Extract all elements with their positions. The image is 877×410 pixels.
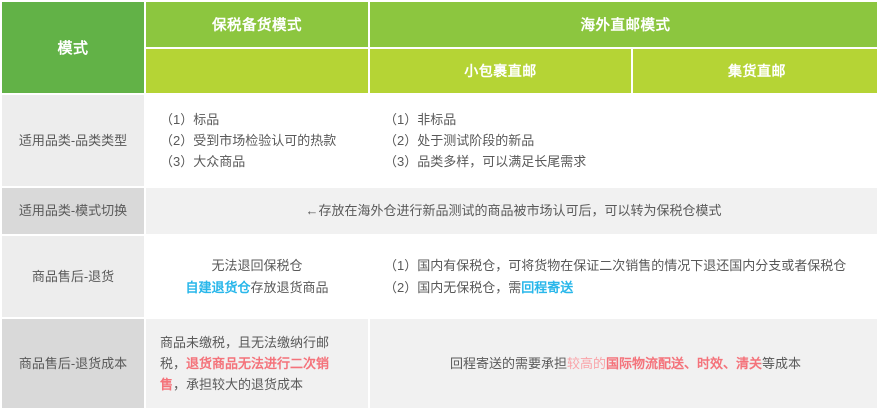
cell-bonded-return-cost: 商品未缴税，且无法缴纳行邮税，退货商品无法进行二次销售，承担较大的退货成本: [146, 319, 368, 408]
table-row: 商品售后-退货 无法退回保税仓 自建退货仓存放退货商品 （1）国内有保税仓，可将…: [2, 236, 877, 317]
table-row: 适用品类-模式切换 ←存放在海外仓进行新品测试的商品被市场认可后，可以转为保税仓…: [2, 188, 877, 234]
cell-overseas-category-type: （1）非标品 （2）处于测试阶段的新品 （3）品类多样，可以满足长尾需求: [370, 95, 877, 186]
cell-text-segment: ，承担较大的退货成本: [173, 377, 303, 392]
cell-line: 无法退回保税仓: [160, 255, 354, 276]
header-mode-label: 模式: [2, 2, 144, 93]
row-label-returns: 商品售后-退货: [2, 236, 144, 317]
cell-line: （1）国内有保税仓，可将货物在保证二次销售的情况下退还国内分支或者保税仓: [384, 255, 867, 276]
cell-text-segment: 回程寄送的需要承担: [450, 356, 567, 371]
header-sub-small-parcel: 小包裹直邮: [370, 49, 631, 93]
row-label-return-cost: 商品售后-退货成本: [2, 319, 144, 408]
table-row: 适用品类-品类类型 （1）标品 （2）受到市场检验认可的热款 （3）大众商品 （…: [2, 95, 877, 186]
cell-line: （2）处于测试阶段的新品: [384, 130, 867, 151]
header-row-groups: 模式 保税备货模式 海外直邮模式: [2, 2, 877, 47]
header-sub-bulk: 集货直邮: [633, 49, 877, 93]
table-header: 模式 保税备货模式 海外直邮模式 小包裹直邮 集货直邮: [2, 2, 877, 93]
cell-line: （3）大众商品: [160, 151, 354, 172]
cell-line: （1）标品: [160, 109, 354, 130]
cell-line-text: （2）国内无保税仓，需: [384, 280, 521, 295]
cell-line: 自建退货仓存放退货商品: [160, 277, 354, 298]
cell-bonded-category-type: （1）标品 （2）受到市场检验认可的热款 （3）大众商品: [146, 95, 368, 186]
table-body: 适用品类-品类类型 （1）标品 （2）受到市场检验认可的热款 （3）大众商品 （…: [2, 95, 877, 408]
row-label-mode-switch: 适用品类-模式切换: [2, 188, 144, 234]
highlight-logistics-items: 国际物流配送、时效、清关: [606, 356, 762, 371]
cell-line: （1）非标品: [384, 109, 867, 130]
table-row: 商品售后-退货成本 商品未缴税，且无法缴纳行邮税，退货商品无法进行二次销售，承担…: [2, 319, 877, 408]
cell-text-segment: 等成本: [762, 356, 801, 371]
cell-overseas-returns: （1）国内有保税仓，可将货物在保证二次销售的情况下退还国内分支或者保税仓 （2）…: [370, 236, 877, 317]
cell-bonded-returns: 无法退回保税仓 自建退货仓存放退货商品: [146, 236, 368, 317]
highlight-higher-cost: 较高的: [567, 356, 606, 371]
highlight-self-built-return-warehouse: 自建退货仓: [185, 280, 250, 295]
cell-line-text: 存放退货商品: [251, 280, 329, 295]
cell-merged-mode-switch: ←存放在海外仓进行新品测试的商品被市场认可后，可以转为保税仓模式: [146, 188, 877, 234]
cell-overseas-return-cost: 回程寄送的需要承担较高的国际物流配送、时效、清关等成本: [370, 319, 877, 408]
header-sub-bonded-blank: [146, 49, 368, 93]
header-group-overseas: 海外直邮模式: [370, 2, 877, 47]
cell-line: （2）受到市场检验认可的热款: [160, 130, 354, 151]
highlight-return-shipping: 回程寄送: [521, 280, 573, 295]
cell-line: （2）国内无保税仓，需回程寄送: [384, 277, 867, 298]
row-label-category-type: 适用品类-品类类型: [2, 95, 144, 186]
cell-line: （3）品类多样，可以满足长尾需求: [384, 151, 867, 172]
mode-comparison-table: 模式 保税备货模式 海外直邮模式 小包裹直邮 集货直邮 适用品类-品类类型 （1…: [0, 0, 877, 410]
header-group-bonded: 保税备货模式: [146, 2, 368, 47]
